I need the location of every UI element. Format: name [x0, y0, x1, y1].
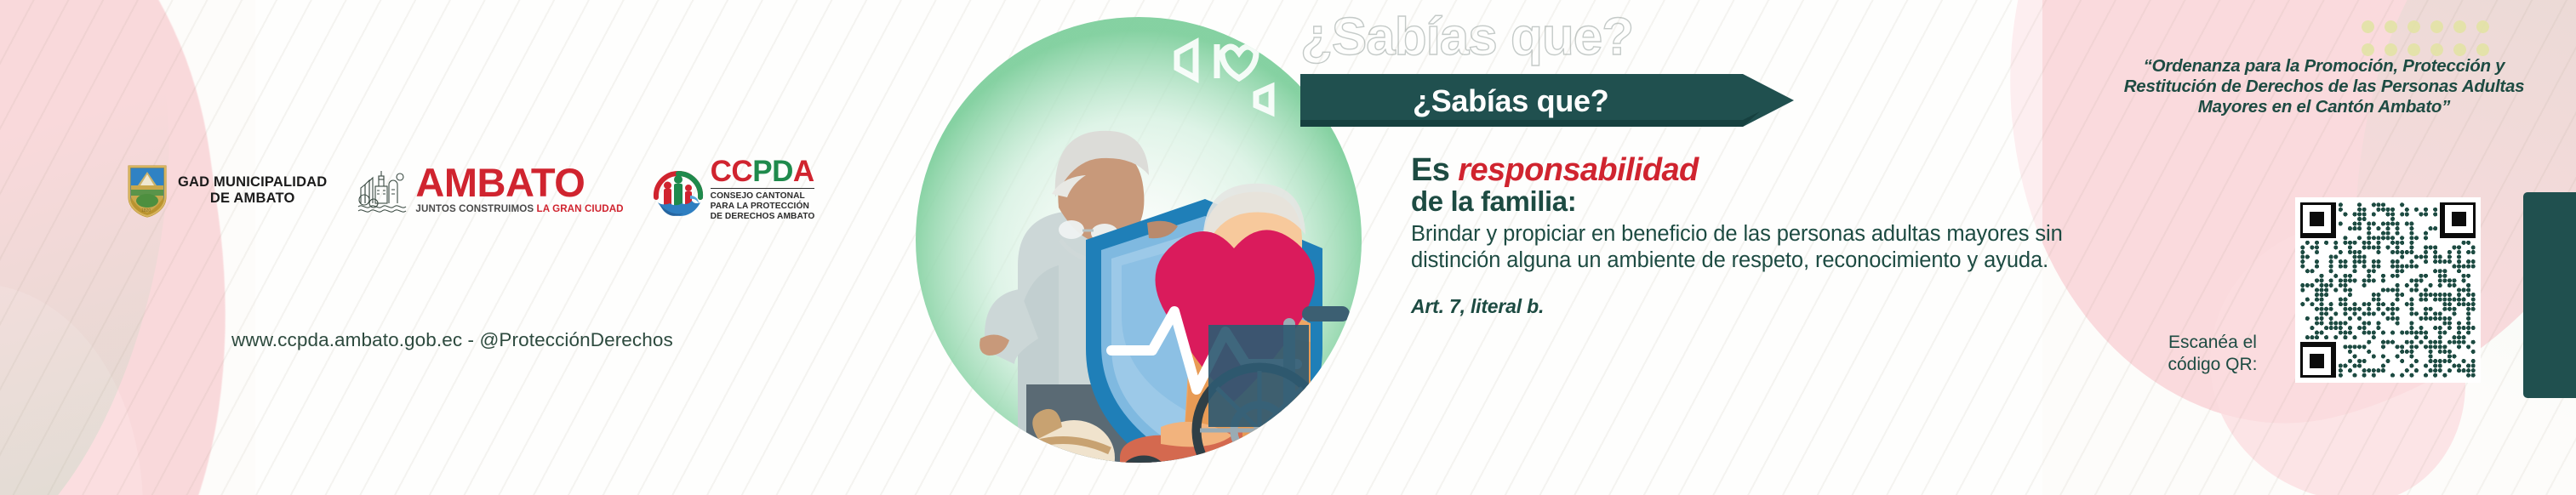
logo-ambato-city[interactable]: AMBATO JUNTOS CONSTRUIMOS LA GRAN CIUDAD — [356, 164, 623, 217]
ccpda-wordmark: CCPDA CONSEJO CANTONAL PARA LA PROTECCIÓ… — [711, 158, 815, 222]
lead-line: Es responsabilidad — [1411, 155, 2092, 186]
ccpda-subtitle: CONSEJO CANTONAL PARA LA PROTECCIÓN DE D… — [711, 191, 815, 222]
gad-logo-text: GAD MUNICIPALIDAD DE AMBATO — [178, 174, 327, 206]
legal-citation: Art. 7, literal b. — [1411, 295, 2092, 318]
ccpda-hand-and-people-icon — [653, 163, 704, 218]
ambato-tagline: JUNTOS CONSTRUIMOS LA GRAN CIUDAD — [415, 203, 623, 214]
ambato-wordmark: AMBATO JUNTOS CONSTRUIMOS LA GRAN CIUDAD — [415, 166, 623, 213]
lead-second-line: de la familia: — [1411, 187, 2092, 217]
ccpda-title: CCPDA — [711, 158, 815, 185]
logo-row: 1820 GAD MUNICIPALIDAD DE AMBATO — [126, 158, 814, 222]
ordinance-quote: “Ordenanza para la Promoción, Protección… — [2107, 56, 2541, 117]
ccpda-letter-5: A — [793, 155, 814, 188]
lead-emphasis: responsabilidad — [1458, 152, 1698, 188]
ambato-coat-of-arms-shield-icon: 1820 — [126, 163, 168, 218]
website-and-social-line[interactable]: www.ccpda.ambato.gob.ec - @ProtecciónDer… — [231, 329, 673, 351]
ambato-tagline-plain: JUNTOS CONSTRUIMOS — [415, 203, 536, 214]
promo-banner: 1820 GAD MUNICIPALIDAD DE AMBATO — [0, 0, 2576, 495]
logo-ccpda[interactable]: CCPDA CONSEJO CANTONAL PARA LA PROTECCIÓ… — [653, 158, 815, 222]
dot-grid-decoration — [2356, 15, 2494, 60]
qr-code[interactable] — [2295, 197, 2481, 383]
ccpda-letter-4: D — [772, 155, 793, 188]
lead-prefix: Es — [1411, 152, 1458, 188]
ambato-title: AMBATO — [415, 166, 623, 200]
logo-gad-municipalidad-ambato[interactable]: 1820 GAD MUNICIPALIDAD DE AMBATO — [126, 163, 327, 218]
ambato-skyline-icon — [356, 164, 408, 217]
svg-text:1820: 1820 — [141, 208, 151, 213]
body-text-block: Es responsabilidad de la familia: Brinda… — [1411, 155, 2092, 318]
ccpda-letter-2: C — [731, 155, 752, 188]
qr-caption: Escanéa el código QR: — [2145, 332, 2281, 375]
ribbon-label: ¿Sabías que? — [1413, 83, 1608, 119]
body-paragraph: Brindar y propiciar en beneficio de las … — [1411, 221, 2092, 274]
ccpda-divider — [711, 188, 815, 190]
ccpda-letter-3: P — [752, 155, 772, 188]
right-edge-teal-bar — [2523, 192, 2576, 398]
ccpda-letter-1: C — [711, 155, 732, 188]
ambato-tagline-bold: LA GRAN CIUDAD — [537, 203, 624, 214]
